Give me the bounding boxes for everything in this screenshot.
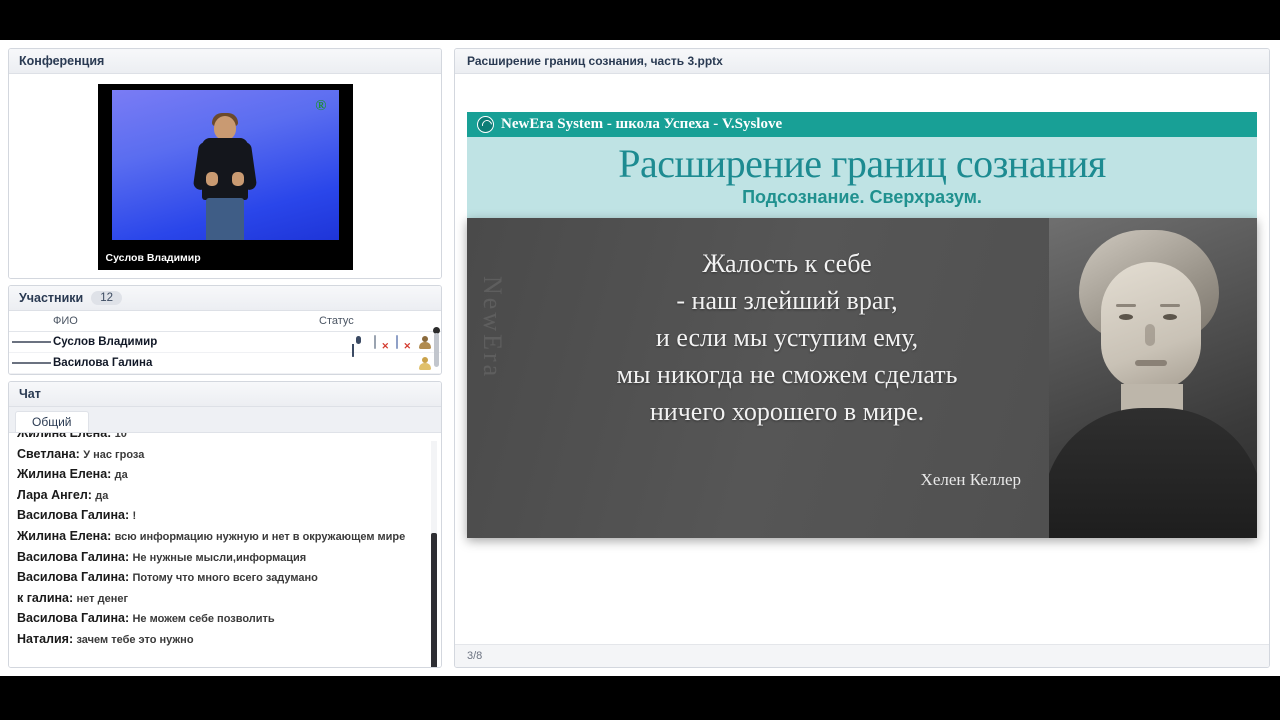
chat-text: ! (132, 510, 136, 522)
slide-viewport[interactable]: NewEra System - школа Успеха - V.Syslove… (455, 74, 1269, 644)
chat-author: Василова Галина: (17, 508, 129, 522)
quote-line: и если мы уступим ему, (507, 320, 1067, 357)
conference-panel: Конференция ® (8, 48, 442, 279)
participants-scrollbar-thumb[interactable] (434, 333, 439, 367)
chat-author: Жилина Елена: (17, 529, 111, 543)
chat-text: всю информацию нужную и нет в окружающем… (115, 531, 406, 543)
slide-subtitle: Подсознание. Сверхразум. (467, 187, 1257, 208)
participant-status-icons (319, 357, 431, 370)
slide-banner: NewEra System - школа Успеха - V.Syslove (467, 112, 1257, 137)
chat-author: Жилина Елена: (17, 433, 111, 440)
column-header-name: ФИО (53, 315, 319, 327)
list-item: Василова Галина: ! (17, 506, 423, 527)
chat-message-clip: Жилина Елена: 10 Светлана: У нас гроза Ж… (17, 433, 423, 667)
chat-author: Василова Галина: (17, 550, 129, 564)
list-item: Светлана: У нас гроза (17, 445, 423, 466)
participants-title: Участники (19, 291, 83, 305)
chat-text: Потому что много всего задумано (132, 572, 317, 584)
participant-status-icons: ✕ ✕ (319, 336, 431, 349)
participant-name: Василова Галина (53, 357, 319, 369)
chat-author: Жилина Елена: (17, 467, 111, 481)
microphone-icon[interactable] (352, 336, 365, 349)
slide-banner-text: NewEra System - школа Успеха - V.Syslove (501, 116, 782, 133)
page-indicator: 3/8 (455, 644, 1269, 667)
list-item: Василова Галина: Не можем себе позволить (17, 609, 423, 630)
table-row[interactable]: Суслов Владимир ✕ ✕ (9, 332, 441, 353)
quote-author: Хелен Келлер (507, 470, 1067, 490)
list-item: Наталия: зачем тебе это нужно (17, 630, 423, 651)
list-item: Василова Галина: Не нужные мысли,информа… (17, 548, 423, 569)
list-item: Василова Галина: Потому что много всего … (17, 568, 423, 589)
slide: NewEra System - школа Успеха - V.Syslove… (467, 112, 1257, 538)
list-item: к галина: нет денег (17, 589, 423, 610)
chat-panel-header: Чат (9, 382, 441, 407)
chat-text: Не нужные мысли,информация (132, 552, 306, 564)
camera-off-icon[interactable]: ✕ (374, 336, 387, 349)
chat-text: У нас гроза (83, 449, 144, 461)
main-stage: Конференция ® (0, 40, 1280, 676)
quote-line: - наш злейший враг, (507, 283, 1067, 320)
list-item: Жилина Елена: всю информацию нужную и не… (17, 527, 423, 548)
participants-panel-header: Участники 12 (9, 286, 441, 311)
quote-line: ничего хорошего в мире. (507, 394, 1067, 431)
presenter-figure (198, 116, 252, 240)
document-title: Расширение границ сознания, часть 3.pptx (455, 49, 1269, 74)
chat-author: к галина: (17, 591, 73, 605)
watermark-text: NewEra (477, 276, 507, 379)
chat-panel: Чат Общий Жилина Елена: 10 Светлана: У н… (8, 381, 442, 668)
conference-panel-header: Конференция (9, 49, 441, 74)
table-row[interactable]: Василова Галина (9, 353, 441, 374)
video-area: ® Суслов (9, 74, 441, 278)
participants-count-badge: 12 (91, 291, 122, 305)
participants-table-wrap: ФИО Статус Суслов Владимир (9, 311, 441, 374)
quote-text: Жалость к себе - наш злейший враг, и есл… (507, 246, 1067, 431)
left-column: Конференция ® (0, 40, 450, 676)
chat-text: да (95, 490, 108, 502)
chat-text: да (115, 469, 128, 481)
avatar-icon (418, 336, 431, 349)
chat-author: Наталия: (17, 632, 73, 646)
participant-name: Суслов Владимир (53, 336, 319, 348)
video-feed: ® (112, 90, 339, 240)
avatar-icon (418, 357, 431, 370)
app-screen: Конференция ® (0, 0, 1280, 720)
participants-panel: Участники 12 ФИО Статус Суслов Владимир (8, 285, 442, 375)
helen-keller-portrait (1049, 218, 1257, 538)
drag-handle-icon[interactable] (9, 360, 53, 366)
chat-message-list[interactable]: Жилина Елена: 10 Светлана: У нас гроза Ж… (9, 433, 441, 667)
slide-title: Расширение границ сознания (467, 143, 1257, 185)
slide-quote-image: NewEra Жалость к себе - наш злейший враг… (467, 218, 1257, 538)
chat-author: Лара Ангел: (17, 488, 92, 502)
chat-scrollbar-thumb[interactable] (431, 533, 437, 667)
slide-title-band: Расширение границ сознания Подсознание. … (467, 137, 1257, 218)
list-item: Жилина Елена: да (17, 465, 423, 486)
chat-author: Светлана: (17, 447, 80, 461)
chat-tabs: Общий (9, 407, 441, 433)
column-header-status: Статус (319, 315, 431, 327)
document-panel: Расширение границ сознания, часть 3.pptx… (454, 48, 1270, 668)
list-item: Лара Ангел: да (17, 486, 423, 507)
newera-logo-icon (477, 116, 494, 133)
drag-handle-icon[interactable] (9, 339, 53, 345)
screenshare-off-icon[interactable]: ✕ (396, 336, 409, 349)
participants-table-header: ФИО Статус (9, 311, 441, 332)
chat-author: Василова Галина: (17, 570, 129, 584)
registered-trademark-icon: ® (315, 98, 326, 115)
video-caption: Суслов Владимир (106, 252, 201, 264)
conference-title: Конференция (19, 54, 104, 68)
chat-title: Чат (19, 387, 41, 401)
quote-line: мы никогда не сможем сделать (507, 357, 1067, 394)
chat-text: зачем тебе это нужно (76, 634, 193, 646)
right-column: Расширение границ сознания, часть 3.pptx… (450, 40, 1280, 676)
chat-author: Василова Галина: (17, 611, 129, 625)
chat-text: нет денег (77, 593, 129, 605)
tab-obshchiy[interactable]: Общий (15, 411, 89, 432)
chat-text: 10 (115, 433, 127, 440)
chat-text: Не можем себе позволить (132, 613, 274, 625)
participants-table: ФИО Статус Суслов Владимир (9, 311, 441, 374)
quote-line: Жалость к себе (507, 246, 1067, 283)
list-item: Жилина Елена: 10 (17, 433, 423, 445)
video-tile[interactable]: ® Суслов (98, 84, 353, 270)
